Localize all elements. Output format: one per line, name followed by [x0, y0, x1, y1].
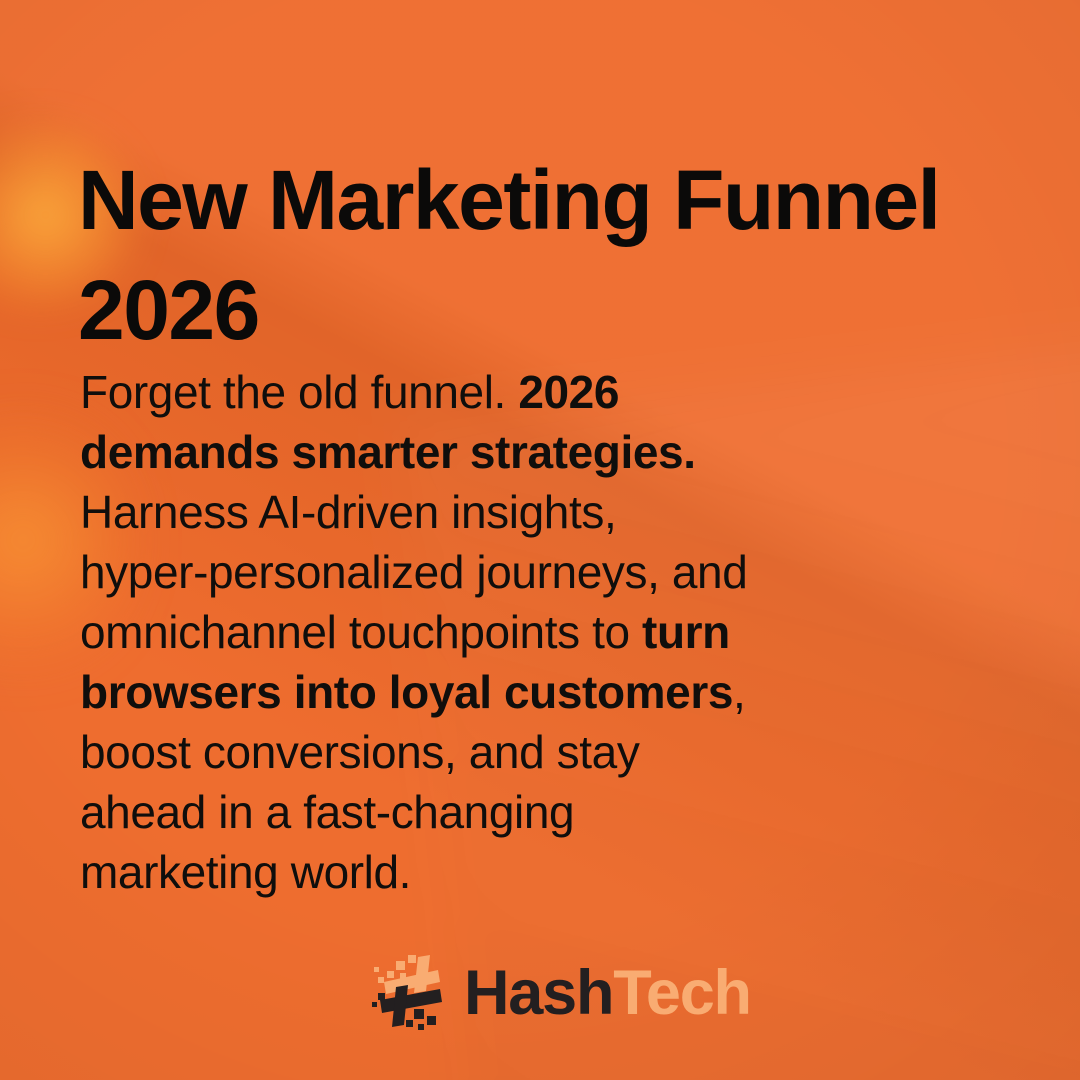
- brand-logo: HashTech: [370, 942, 730, 1040]
- body-text-run: Forget the old funnel.: [80, 366, 518, 418]
- body-paragraph: Forget the old funnel. 2026 demands smar…: [80, 362, 752, 902]
- brand-logo-wordmark: HashTech: [464, 962, 751, 1025]
- pixelated-hash-icon: [370, 945, 462, 1037]
- brand-word-hash: Hash: [464, 958, 613, 1028]
- poster-content: New Marketing Funnel 2026 Forget the old…: [0, 0, 1080, 1080]
- poster-canvas: New Marketing Funnel 2026 Forget the old…: [0, 0, 1080, 1080]
- brand-word-tech: Tech: [613, 958, 751, 1028]
- page-title: New Marketing Funnel 2026: [78, 145, 998, 365]
